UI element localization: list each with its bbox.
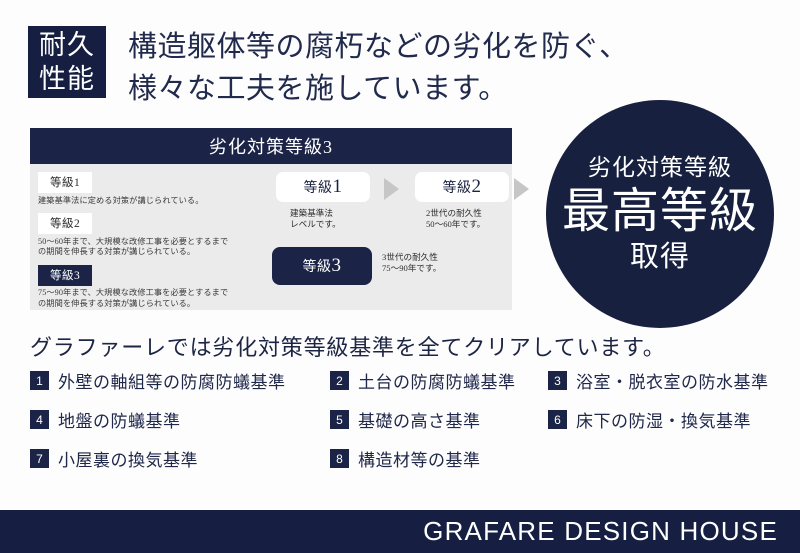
criteria-text-6: 床下の防湿・換気基準 xyxy=(576,407,751,432)
headline: 構造躯体等の腐朽などの劣化を防ぐ、 様々な工夫を施しています。 xyxy=(128,26,629,110)
flow-box-1-number: 1 xyxy=(333,176,343,197)
grade-definition-list: 等級1 建築基準法に定める対策が講じられている。 等級2 50〜60年まで、大規… xyxy=(38,172,244,316)
criteria-number-8: 8 xyxy=(330,449,349,468)
flow-caption-3-line2: 75〜90年です。 xyxy=(382,263,441,274)
flow-box-3-label: 等級3 xyxy=(303,255,342,277)
grade-panel-title: 劣化対策等級3 xyxy=(30,128,512,164)
headline-line-1: 構造躯体等の腐朽などの劣化を防ぐ、 xyxy=(128,26,629,68)
criteria-number-1: 1 xyxy=(30,371,49,390)
criteria-text-8: 構造材等の基準 xyxy=(358,446,481,471)
brand-name: GRAFARE DESIGN HOUSE xyxy=(423,516,778,547)
footer-bar: GRAFARE DESIGN HOUSE xyxy=(0,510,800,553)
flow-caption-2-line2: 50〜60年です。 xyxy=(426,219,485,230)
criteria-text-3: 浴室・脱衣室の防水基準 xyxy=(576,368,769,393)
criteria-text-4: 地盤の防蟻基準 xyxy=(58,407,181,432)
criteria-text-7: 小屋裏の換気基準 xyxy=(58,446,198,471)
flow-caption-1: 建築基準法 レベルです。 xyxy=(290,208,341,230)
criteria-item-1: 1 外壁の軸組等の防腐防蟻基準 xyxy=(30,368,330,393)
grade-desc-2-line1: 50〜60年まで、大規模な改修工事を必要とするまで xyxy=(38,237,244,248)
criteria-text-5: 基礎の高さ基準 xyxy=(358,407,481,432)
grade-desc-2-line2: の期間を伸長する対策が講じられている。 xyxy=(38,247,244,258)
grade-flow-chart: 等級1 建築基準法 レベルです。 等級2 2世代の耐久性 50〜60年です。 等… xyxy=(248,170,510,306)
grade-tag-2: 等級2 xyxy=(38,213,92,234)
durability-badge-line1: 耐久 xyxy=(39,28,95,62)
criteria-number-5: 5 xyxy=(330,410,349,429)
grade-definition-item: 等級2 50〜60年まで、大規模な改修工事を必要とするまで の期間を伸長する対策… xyxy=(38,213,244,258)
grade-desc-3-line2: の期間を伸長する対策が講じられている。 xyxy=(38,299,244,310)
grade-desc-2: 50〜60年まで、大規模な改修工事を必要とするまで の期間を伸長する対策が講じら… xyxy=(38,237,244,258)
criteria-item-6: 6 床下の防湿・換気基準 xyxy=(548,407,751,432)
criteria-text-1: 外壁の軸組等の防腐防蟻基準 xyxy=(58,368,286,393)
flow-caption-2-line1: 2世代の耐久性 xyxy=(426,208,485,219)
grade-definition-item: 等級3 75〜90年まで、大規模な改修工事を必要とするまで の期間を伸長する対策… xyxy=(38,265,244,310)
seal-top-text: 劣化対策等級 xyxy=(588,155,732,181)
durability-badge-line2: 性能 xyxy=(39,62,95,96)
flow-arrow-icon xyxy=(384,178,399,200)
flow-box-grade-2: 等級2 xyxy=(415,172,509,202)
flow-box-3-number: 3 xyxy=(332,255,342,276)
durability-badge: 耐久 性能 xyxy=(28,26,106,98)
criteria-item-3: 3 浴室・脱衣室の防水基準 xyxy=(548,368,769,393)
flow-caption-1-line1: 建築基準法 xyxy=(290,208,341,219)
criteria-item-7: 7 小屋裏の換気基準 xyxy=(30,446,330,471)
criteria-list: 1 外壁の軸組等の防腐防蟻基準 2 土台の防腐防蟻基準 3 浴室・脱衣室の防水基… xyxy=(30,368,775,485)
headline-line-2: 様々な工夫を施しています。 xyxy=(128,68,629,110)
criteria-text-2: 土台の防腐防蟻基準 xyxy=(358,368,516,393)
flow-box-3-prefix: 等級 xyxy=(303,260,332,275)
grade-desc-1-line1: 建築基準法に定める対策が講じられている。 xyxy=(38,196,244,207)
seal-middle-text: 最高等級 xyxy=(562,184,758,240)
grade-desc-3: 75〜90年まで、大規模な改修工事を必要とするまで の期間を伸長する対策が講じら… xyxy=(38,288,244,309)
criteria-number-3: 3 xyxy=(548,371,567,390)
grade-tag-1: 等級1 xyxy=(38,172,92,193)
flow-caption-2: 2世代の耐久性 50〜60年です。 xyxy=(426,208,485,230)
criteria-row: 4 地盤の防蟻基準 5 基礎の高さ基準 6 床下の防湿・換気基準 xyxy=(30,407,775,432)
criteria-row: 1 外壁の軸組等の防腐防蟻基準 2 土台の防腐防蟻基準 3 浴室・脱衣室の防水基… xyxy=(30,368,775,393)
flow-box-grade-1: 等級1 xyxy=(276,172,370,202)
grade-desc-1: 建築基準法に定める対策が講じられている。 xyxy=(38,196,244,207)
criteria-number-7: 7 xyxy=(30,449,49,468)
flow-caption-3-line1: 3世代の耐久性 xyxy=(382,252,441,263)
criteria-row: 7 小屋裏の換気基準 8 構造材等の基準 xyxy=(30,446,775,471)
criteria-number-4: 4 xyxy=(30,410,49,429)
grade-panel-body: 等級1 建築基準法に定める対策が講じられている。 等級2 50〜60年まで、大規… xyxy=(30,164,512,310)
criteria-item-5: 5 基礎の高さ基準 xyxy=(330,407,548,432)
seal-bottom-text: 取得 xyxy=(630,240,690,274)
criteria-number-2: 2 xyxy=(330,371,349,390)
header: 耐久 性能 構造躯体等の腐朽などの劣化を防ぐ、 様々な工夫を施しています。 xyxy=(28,26,629,110)
flow-arrow-icon xyxy=(514,178,529,200)
flow-caption-1-line2: レベルです。 xyxy=(290,219,341,230)
flow-box-2-prefix: 等級 xyxy=(443,181,472,196)
grade-panel: 劣化対策等級3 等級1 建築基準法に定める対策が講じられている。 等級2 50〜… xyxy=(30,128,512,310)
criteria-item-8: 8 構造材等の基準 xyxy=(330,446,548,471)
flow-box-1-prefix: 等級 xyxy=(304,181,333,196)
flow-box-2-number: 2 xyxy=(472,176,482,197)
tagline: グラファーレでは劣化対策等級基準を全てクリアしています。 xyxy=(30,330,666,362)
flow-box-grade-3: 等級3 xyxy=(272,247,372,285)
grade-desc-3-line1: 75〜90年まで、大規模な改修工事を必要とするまで xyxy=(38,288,244,299)
criteria-item-2: 2 土台の防腐防蟻基準 xyxy=(330,368,548,393)
flow-box-1-label: 等級1 xyxy=(304,176,343,198)
criteria-item-4: 4 地盤の防蟻基準 xyxy=(30,407,330,432)
grade-tag-3: 等級3 xyxy=(38,265,92,286)
flow-caption-3: 3世代の耐久性 75〜90年です。 xyxy=(382,252,441,274)
grade-definition-item: 等級1 建築基準法に定める対策が講じられている。 xyxy=(38,172,244,206)
criteria-number-6: 6 xyxy=(548,410,567,429)
top-grade-seal: 劣化対策等級 最高等級 取得 xyxy=(546,100,774,328)
infographic-page: 耐久 性能 構造躯体等の腐朽などの劣化を防ぐ、 様々な工夫を施しています。 劣化… xyxy=(0,0,800,553)
flow-box-2-label: 等級2 xyxy=(443,176,482,198)
